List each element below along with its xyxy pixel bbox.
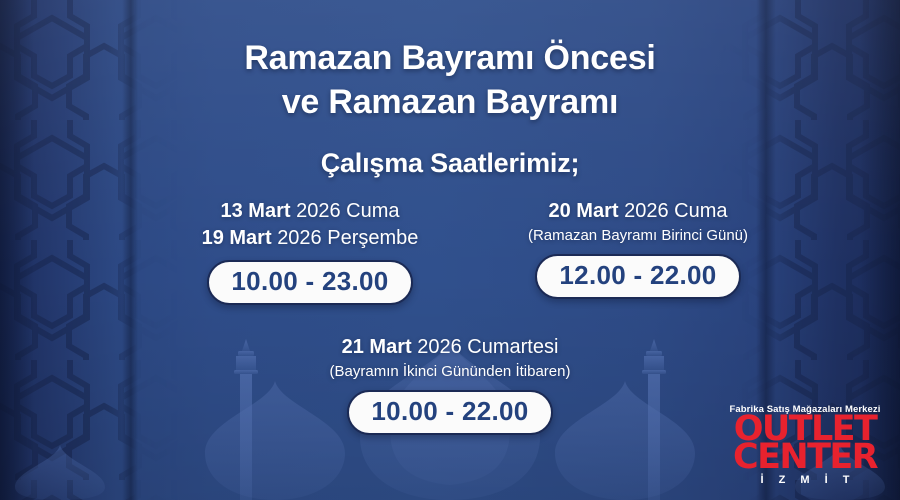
- schedule-right-date-1-rest: 2026 Cuma: [624, 200, 727, 222]
- schedule-left-hours-pill: 10.00 - 23.00: [207, 260, 412, 305]
- schedule-block-left: 13 Mart 2026 Cuma 19 Mart 2026 Perşembe …: [142, 198, 478, 305]
- schedule-bottom-date-line-1: 21 Mart 2026 Cumartesi: [282, 334, 618, 361]
- schedule-left-date-2-bold: 19 Mart: [202, 227, 272, 249]
- page-title: Ramazan Bayramı Öncesi ve Ramazan Bayram…: [0, 36, 900, 124]
- ramadan-hours-banner: Ramazan Bayramı Öncesi ve Ramazan Bayram…: [0, 0, 900, 500]
- schedule-block-bottom: 21 Mart 2026 Cumartesi (Bayramın İkinci …: [282, 334, 618, 435]
- schedule-bottom-hours-pill: 10.00 - 22.00: [347, 390, 552, 435]
- schedule-left-date-line-1: 13 Mart 2026 Cuma: [142, 198, 478, 225]
- schedule-right-date-1-bold: 20 Mart: [549, 200, 619, 222]
- schedule-left-date-line-2: 19 Mart 2026 Perşembe: [142, 225, 478, 252]
- schedule-left-date-1-bold: 13 Mart: [221, 200, 291, 222]
- schedule-bottom-date-1-bold: 21 Mart: [342, 336, 412, 358]
- outlet-center-logo: Fabrika Satış Mağazaları Merkezi OUTLET …: [720, 404, 890, 486]
- logo-wordmark: OUTLET CENTER: [720, 415, 890, 471]
- schedule-right-note: (Ramazan Bayramı Birinci Günü): [470, 226, 806, 246]
- schedule-bottom-date-1-rest: 2026 Cumartesi: [417, 336, 558, 358]
- schedule-left-date-2-rest: 2026 Perşembe: [277, 227, 418, 249]
- schedule-left-date-1-rest: 2026 Cuma: [296, 200, 399, 222]
- title-line-1: Ramazan Bayramı Öncesi: [244, 39, 655, 77]
- subtitle: Çalışma Saatlerimiz;: [0, 148, 900, 179]
- schedule-right-hours-pill: 12.00 - 22.00: [535, 254, 740, 299]
- title-line-2: ve Ramazan Bayramı: [0, 80, 900, 124]
- schedule-block-right: 20 Mart 2026 Cuma (Ramazan Bayramı Birin…: [470, 198, 806, 299]
- schedule-bottom-note: (Bayramın İkinci Gününden İtibaren): [282, 362, 618, 382]
- schedule-right-date-line-1: 20 Mart 2026 Cuma: [470, 198, 806, 225]
- logo-word-center: CENTER: [720, 443, 890, 471]
